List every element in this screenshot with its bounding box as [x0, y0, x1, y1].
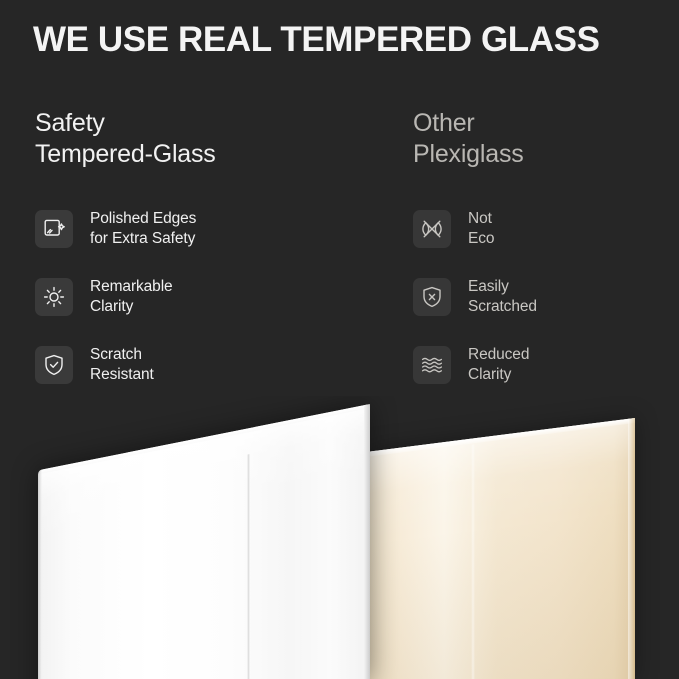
- feature-label: Reduced Clarity: [468, 344, 529, 385]
- product-comparison-graphic: WE USE REAL TEMPERED GLASS Safety Temper…: [0, 0, 679, 679]
- plexiglass-panel: [370, 418, 635, 679]
- column-other-plexiglass: Other Plexiglass Not Eco: [413, 108, 675, 412]
- tempered-glass-left-edge: [38, 470, 42, 679]
- column-title-line1: Safety: [35, 109, 105, 137]
- feature-list: Polished Edges for Extra Safety Remarkab…: [35, 208, 385, 412]
- leaf-crossed-out-icon: [413, 210, 451, 248]
- wavy-lines-icon: [413, 346, 451, 384]
- feature-label-line2: Resistant: [90, 365, 154, 385]
- tempered-glass-reflection-seam: [247, 454, 250, 679]
- plexiglass-panel-edge: [628, 418, 635, 679]
- feature-item-not-eco: Not Eco: [413, 208, 675, 276]
- feature-label-line2: for Extra Safety: [90, 229, 196, 249]
- feature-label: Polished Edges for Extra Safety: [90, 208, 196, 249]
- feature-label-line2: Clarity: [468, 365, 529, 385]
- feature-label-line1: Polished Edges: [90, 210, 196, 227]
- feature-label-line1: Easily: [468, 278, 509, 295]
- sun-brightness-icon: [35, 278, 73, 316]
- feature-label-line2: Eco: [468, 229, 494, 249]
- column-safety-tempered-glass: Safety Tempered-Glass Polished Edges for…: [35, 108, 385, 412]
- column-title: Safety Tempered-Glass: [35, 108, 385, 170]
- feature-label-line2: Scratched: [468, 297, 537, 317]
- column-title-line2: Tempered-Glass: [35, 139, 385, 170]
- polished-glass-sparkle-icon: [35, 210, 73, 248]
- feature-label: Not Eco: [468, 208, 494, 249]
- feature-label: Scratch Resistant: [90, 344, 154, 385]
- tempered-glass-panel: [38, 404, 370, 679]
- feature-label-line1: Scratch: [90, 346, 142, 363]
- feature-label-line1: Not: [468, 210, 492, 227]
- feature-label-line1: Reduced: [468, 346, 529, 363]
- feature-list: Not Eco Easily Scratched: [413, 208, 675, 412]
- feature-label-line2: Clarity: [90, 297, 173, 317]
- product-photo: [0, 396, 679, 679]
- column-title-line1: Other: [413, 109, 475, 137]
- feature-item-easily-scratched: Easily Scratched: [413, 276, 675, 344]
- tempered-glass-right-edge: [364, 404, 370, 679]
- page-title: WE USE REAL TEMPERED GLASS: [33, 18, 653, 62]
- feature-label-line1: Remarkable: [90, 278, 173, 295]
- shield-check-icon: [35, 346, 73, 384]
- feature-item-remarkable-clarity: Remarkable Clarity: [35, 276, 385, 344]
- column-title: Other Plexiglass: [413, 108, 675, 170]
- feature-label: Remarkable Clarity: [90, 276, 173, 317]
- column-title-line2: Plexiglass: [413, 139, 675, 170]
- feature-item-polished-edges: Polished Edges for Extra Safety: [35, 208, 385, 276]
- feature-label: Easily Scratched: [468, 276, 537, 317]
- shield-x-icon: [413, 278, 451, 316]
